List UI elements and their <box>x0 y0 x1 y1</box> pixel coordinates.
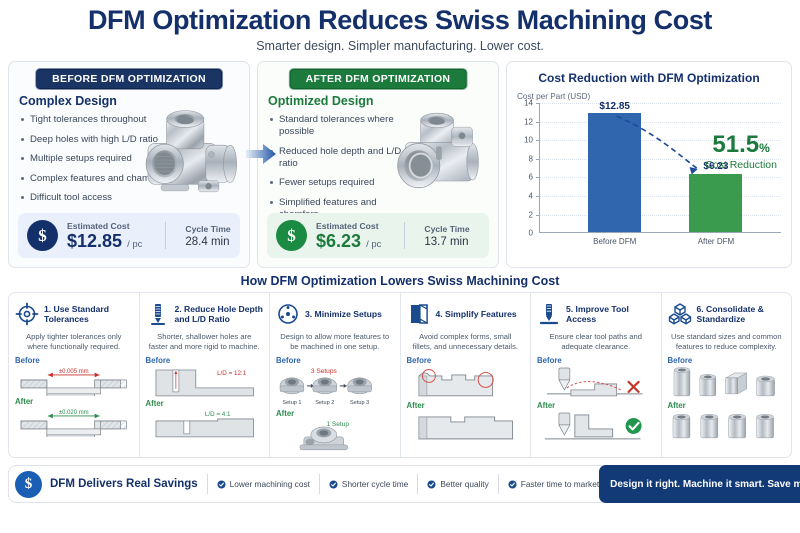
divider <box>404 222 405 249</box>
tip2-after-figure: L/D = 4:1 <box>146 409 264 439</box>
target-crosshair-icon <box>15 302 39 326</box>
after-label: After <box>407 401 525 410</box>
tip1-after-note: ±0.020 mm <box>59 410 89 416</box>
tip5-before-figure <box>537 366 655 400</box>
after-label: After <box>146 399 264 408</box>
footer-cta-banner[interactable]: Design it right. Machine it smart. Save … <box>599 465 800 503</box>
after-cost-value: $6.23 <box>316 231 361 251</box>
after-label: After <box>15 397 133 406</box>
reduction-caption: Cost Reduction <box>705 159 777 171</box>
tip-description: Shorter, shallower holes are faster and … <box>148 332 262 352</box>
footer-bar: $ DFM Delivers Real Savings Lower machin… <box>8 465 792 503</box>
tip-description: Ensure clear tool paths and adequate cle… <box>539 332 653 352</box>
tip1-before-figure: ±0.005 mm <box>15 366 133 396</box>
before-label: Before <box>15 356 133 365</box>
reduction-percent: 51.5 <box>712 131 759 158</box>
footer-benefit-label: Shorter cycle time <box>342 479 408 489</box>
divider <box>207 474 208 494</box>
tip-description: Avoid complex forms, small fillets, and … <box>409 332 523 352</box>
divider <box>319 474 320 494</box>
after-cost-label: Estimated Cost <box>316 221 381 231</box>
setup-label-2: Setup 2 <box>315 400 334 406</box>
page-title: DFM Optimization Reduces Swiss Machining… <box>0 6 800 35</box>
check-circle-icon <box>508 480 517 489</box>
comparison-row: BEFORE DFM OPTIMIZATION Complex Design T… <box>0 53 800 268</box>
tip-card-4[interactable]: 4. Simplify Features Avoid complex forms… <box>400 293 531 457</box>
cost-reduction-callout: 51.5% Cost Reduction <box>705 133 777 171</box>
tip-card-2[interactable]: 2. Reduce Hole Depth and L/D Ratio Short… <box>139 293 270 457</box>
x-tick-after: After DFM <box>698 237 734 246</box>
tips-row: 1. Use Standard Tolerances Apply tighter… <box>8 292 792 458</box>
setup-label-3: Setup 3 <box>350 400 369 406</box>
tip1-before-note: ±0.005 mm <box>59 369 89 375</box>
dollar-icon: $ <box>15 471 42 498</box>
check-circle-icon <box>427 480 436 489</box>
tip6-after-figure <box>668 411 786 441</box>
x-tick-before: Before DFM <box>593 237 636 246</box>
tip5-after-figure <box>537 411 655 443</box>
before-cost-value: $12.85 <box>67 231 122 251</box>
tip-title: 1. Use Standard Tolerances <box>44 304 133 324</box>
before-cycle-value: 28.4 min <box>185 236 230 248</box>
infographic-page: DFM Optimization Reduces Swiss Machining… <box>0 0 800 533</box>
stacked-cubes-icon <box>668 302 692 326</box>
y-tick: 2 <box>529 210 533 219</box>
tip2-before-figure: L/D = 12:1 <box>146 366 264 398</box>
tip3-after-figure: 1 Setup <box>276 419 394 453</box>
drill-bit-icon <box>146 302 170 326</box>
tip4-before-figure <box>407 366 525 400</box>
tip3-before-note: 3 Setups <box>311 368 338 375</box>
dollar-icon: $ <box>276 220 307 251</box>
chuck-fixture-icon <box>276 302 300 326</box>
percent-symbol: % <box>759 141 770 155</box>
y-tick: 8 <box>529 154 533 163</box>
footer-benefit-3: Better quality <box>427 479 488 489</box>
footer-benefit-1: Lower machining cost <box>217 479 310 489</box>
chart-y-ticks: 14 12 10 8 6 4 2 0 <box>517 103 533 233</box>
after-label: After <box>668 401 786 410</box>
page-header: DFM Optimization Reduces Swiss Machining… <box>0 0 800 53</box>
setup-label-1: Setup 1 <box>282 400 301 406</box>
tip3-after-note: 1 Setup <box>326 421 349 428</box>
y-tick: 12 <box>524 117 533 126</box>
chart-title: Cost Reduction with DFM Optimization <box>507 62 791 85</box>
tip-title: 5. Improve Tool Access <box>566 304 655 324</box>
before-label: Before <box>276 356 394 365</box>
before-label: Before <box>146 356 264 365</box>
after-cost-unit: / pc <box>366 239 381 250</box>
before-label: Before <box>407 356 525 365</box>
y-tick: 4 <box>529 192 533 201</box>
y-tick: 0 <box>529 229 533 238</box>
tip6-before-figure <box>668 366 786 400</box>
cost-reduction-chart-panel: Cost Reduction with DFM Optimization Cos… <box>506 61 792 268</box>
footer-benefit-label: Better quality <box>440 479 488 489</box>
tip-card-3[interactable]: 3. Minimize Setups Design to allow more … <box>269 293 400 457</box>
tip-description: Use standard sizes and common features t… <box>670 332 784 352</box>
page-subtitle: Smarter design. Simpler manufacturing. L… <box>0 39 800 53</box>
tip-title: 4. Simplify Features <box>436 309 517 319</box>
tip-title: 3. Minimize Setups <box>305 309 382 319</box>
after-cost-strip: $ Estimated Cost $6.23 / pc Cycle Time 1… <box>267 213 489 258</box>
check-circle-icon <box>217 480 226 489</box>
y-tick: 6 <box>529 173 533 182</box>
tip-card-1[interactable]: 1. Use Standard Tolerances Apply tighter… <box>9 293 139 457</box>
tip-description: Design to allow more features to be mach… <box>278 332 392 352</box>
before-dfm-panel: BEFORE DFM OPTIMIZATION Complex Design T… <box>8 61 250 268</box>
before-label: Before <box>537 356 655 365</box>
after-cycle-value: 13.7 min <box>424 236 469 248</box>
tips-section-title: How DFM Optimization Lowers Swiss Machin… <box>0 268 800 292</box>
tip-title: 2. Reduce Hole Depth and L/D Ratio <box>175 304 264 324</box>
chart-y-axis-label: Cost per Part (USD) <box>507 85 791 101</box>
before-cycle-label: Cycle Time <box>185 224 230 234</box>
y-tick: 14 <box>524 99 533 108</box>
tip2-before-note: L/D = 12:1 <box>217 370 247 377</box>
feature-block-icon <box>407 302 431 326</box>
after-label: After <box>537 401 655 410</box>
footer-benefit-4: Faster time to market <box>508 479 599 489</box>
before-cost-unit: / pc <box>127 239 142 250</box>
after-part-image <box>380 106 496 206</box>
tip-description: Apply tighter tolerances only where func… <box>17 332 131 352</box>
tip3-before-figure: 3 Setups Setup 1 Setup 2 <box>276 366 394 408</box>
tip2-after-note: L/D = 4:1 <box>204 411 230 418</box>
check-circle-icon <box>329 480 338 489</box>
footer-benefit-2: Shorter cycle time <box>329 479 408 489</box>
before-cost-strip: $ Estimated Cost $12.85 / pc Cycle Time … <box>18 213 240 258</box>
divider <box>417 474 418 494</box>
cutting-tool-icon <box>537 302 561 326</box>
after-dfm-panel: AFTER DFM OPTIMIZATION Optimized Design … <box>257 61 499 268</box>
divider <box>498 474 499 494</box>
tip-title: 6. Consolidate & Standardize <box>697 304 786 324</box>
y-tick: 10 <box>524 136 533 145</box>
after-label: After <box>276 409 394 418</box>
before-part-image <box>133 102 245 207</box>
tip4-after-figure <box>407 411 525 441</box>
before-label: Before <box>668 356 786 365</box>
footer-benefit-label: Faster time to market <box>521 479 599 489</box>
transition-arrow-icon <box>246 142 276 166</box>
tip1-after-figure: ±0.020 mm <box>15 407 133 437</box>
after-cycle-label: Cycle Time <box>424 224 469 234</box>
chart-plot-area: 14 12 10 8 6 4 2 0 <box>517 103 783 253</box>
tip-card-5[interactable]: 5. Improve Tool Access Ensure clear tool… <box>530 293 661 457</box>
footer-benefit-label: Lower machining cost <box>230 479 310 489</box>
before-cost-label: Estimated Cost <box>67 221 142 231</box>
tip-card-6[interactable]: 6. Consolidate & Standardize Use standar… <box>661 293 792 457</box>
dollar-icon: $ <box>27 220 58 251</box>
footer-title: DFM Delivers Real Savings <box>50 478 198 490</box>
divider <box>165 222 166 249</box>
